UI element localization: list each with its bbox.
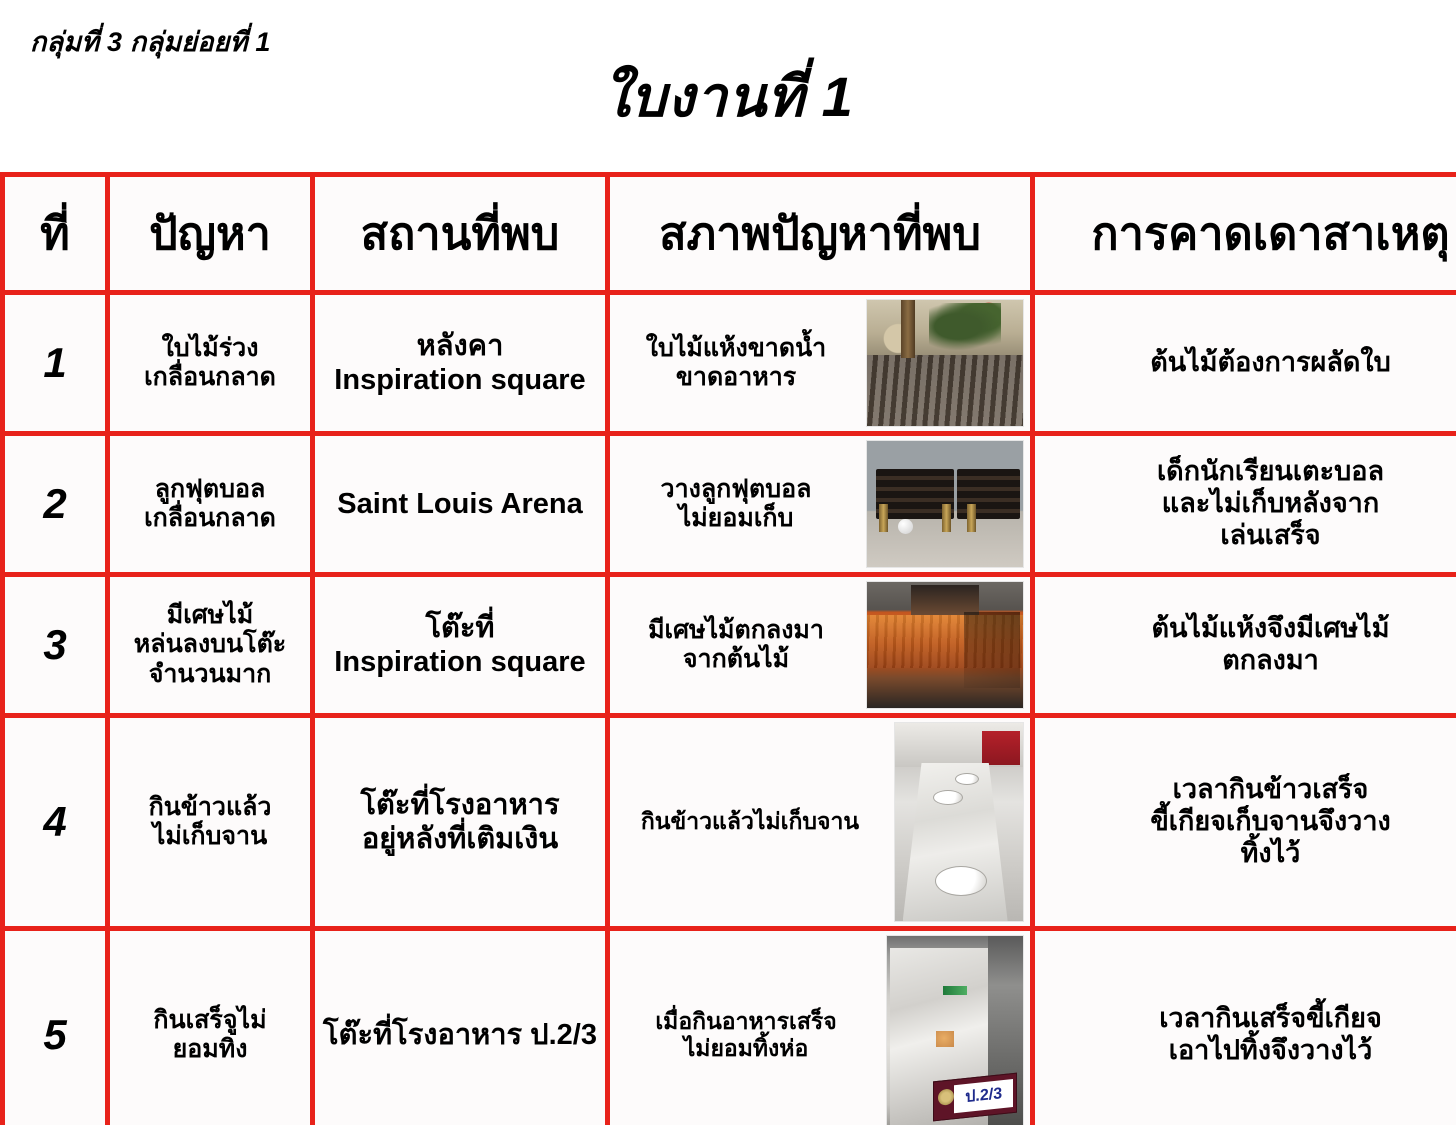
place-cell: Saint Louis Arena: [313, 434, 608, 575]
row-number: 2: [3, 434, 108, 575]
cause-text: ต้นไม้ต้องการผลัดใบ: [1041, 347, 1456, 379]
table-header-row: ที่ ปัญหา สถานที่พบ สภาพปัญหาที่พบ การคา…: [3, 175, 1456, 293]
cause-text: ต้นไม้แห้งจึงมีเศษไม้ ตกลงมา: [1041, 613, 1456, 677]
wooden-table-debris-photo: [866, 581, 1024, 709]
place-cell: โต๊ะที่ Inspiration square: [313, 575, 608, 716]
table-row: 3 มีเศษไม้ หล่นลงบนโต๊ะ จำนวนมาก โต๊ะที่…: [3, 575, 1456, 716]
column-header-no: ที่: [3, 175, 108, 293]
problem-cell: ลูกฟุตบอล เกลื่อนกลาด: [108, 434, 313, 575]
photo-red-cabinet: [982, 731, 1020, 765]
photo-table-top: [903, 763, 1008, 921]
column-header-problem: ปัญหา: [108, 175, 313, 293]
table-row: 5 กินเสร็จูไม่ ยอมทิง โต๊ะที่โรงอาหาร ป.…: [3, 929, 1456, 1125]
place-cell: โต๊ะที่โรงอาหาร ป.2/3: [313, 929, 608, 1125]
place-cell: หลังคา Inspiration square: [313, 293, 608, 434]
condition-cell: ใบไม้แห้งขาดน้ำ ขาดอาหาร: [608, 293, 1033, 434]
roof-with-dry-leaves-photo: [866, 299, 1024, 427]
table-row: 2 ลูกฟุตบอล เกลื่อนกลาด Saint Louis Aren…: [3, 434, 1456, 575]
benches-with-football-photo: [866, 440, 1024, 568]
table-row: 4 กินข้าวแล้ว ไม่เก็บจาน โต๊ะที่โรงอาหาร…: [3, 716, 1456, 929]
cause-cell: เวลากินข้าวเสร็จ ขี้เกียจเก็บจานจึงวาง ท…: [1033, 716, 1456, 929]
page-title: ใบงานที่ 1: [0, 52, 1456, 141]
problem-text: กินข้าวแล้ว ไม่เก็บจาน: [116, 793, 304, 852]
place-text: โต๊ะที่โรงอาหาร อยู่หลังที่เติมเงิน: [321, 788, 599, 856]
photo-food-wrapper: [936, 1031, 954, 1047]
problem-text: มีเศษไม้ หล่นลงบนโต๊ะ จำนวนมาก: [116, 601, 304, 690]
photo-plate: [955, 773, 979, 785]
condition-text: กินข้าวแล้วไม่เก็บจาน: [616, 808, 884, 835]
cause-text: เวลากินเสร็จขี้เกียจ เอาไปทิ้งจึงวางไว้: [1041, 1003, 1456, 1067]
problem-cell: มีเศษไม้ หล่นลงบนโต๊ะ จำนวนมาก: [108, 575, 313, 716]
problem-cell: กินเสร็จูไม่ ยอมทิง: [108, 929, 313, 1125]
condition-text: วางลูกฟุตบอล ไม่ยอมเก็บ: [616, 475, 856, 534]
row-number: 3: [3, 575, 108, 716]
cause-cell: เวลากินเสร็จขี้เกียจ เอาไปทิ้งจึงวางไว้: [1033, 929, 1456, 1125]
photo-green-wrapper: [943, 986, 967, 995]
place-text: Saint Louis Arena: [321, 487, 599, 521]
condition-cell: มีเศษไม้ตกลงมา จากต้นไม้: [608, 575, 1033, 716]
place-text: โต๊ะที่โรงอาหาร ป.2/3: [321, 1018, 599, 1052]
column-header-place: สถานที่พบ: [313, 175, 608, 293]
place-cell: โต๊ะที่โรงอาหาร อยู่หลังที่เติมเงิน: [313, 716, 608, 929]
canteen-table-dirty-plates-photo: [894, 722, 1024, 922]
cause-cell: ต้นไม้ต้องการผลัดใบ: [1033, 293, 1456, 434]
problem-cell: กินข้าวแล้ว ไม่เก็บจาน: [108, 716, 313, 929]
photo-school-seal: [938, 1088, 954, 1106]
row-number: 4: [3, 716, 108, 929]
row-number: 5: [3, 929, 108, 1125]
condition-text: เมื่อกินอาหารเสร็จ ไม่ยอมทิ้งห่อ: [616, 1008, 876, 1062]
photo-class-sign-text: ป.2/3: [954, 1078, 1013, 1112]
cause-text: เด็กนักเรียนเตะบอล และไม่เก็บหลังจาก เล่…: [1041, 456, 1456, 552]
condition-text: ใบไม้แห้งขาดน้ำ ขาดอาหาร: [616, 334, 856, 393]
table-row: 1 ใบไม้ร่วง เกลื่อนกลาด หลังคา Inspirati…: [3, 293, 1456, 434]
photo-bench-leg: [967, 504, 976, 532]
condition-cell: เมื่อกินอาหารเสร็จ ไม่ยอมทิ้งห่อ ป.2/3: [608, 929, 1033, 1125]
cause-cell: เด็กนักเรียนเตะบอล และไม่เก็บหลังจาก เล่…: [1033, 434, 1456, 575]
place-text: หลังคา Inspiration square: [321, 329, 599, 397]
photo-bench-leg: [942, 504, 951, 532]
condition-cell: วางลูกฟุตบอล ไม่ยอมเก็บ: [608, 434, 1033, 575]
worksheet-page: กลุ่มที่ 3 กลุ่มย่อยที่ 1 ใบงานที่ 1 ที่…: [0, 0, 1456, 1125]
photo-football: [898, 519, 913, 534]
photo-tree-trunk: [901, 300, 915, 358]
problem-text: กินเสร็จูไม่ ยอมทิง: [116, 1006, 304, 1065]
problem-text: ใบไม้ร่วง เกลื่อนกลาด: [116, 334, 304, 393]
column-header-condition: สภาพปัญหาที่พบ: [608, 175, 1033, 293]
photo-foliage: [929, 303, 1001, 351]
problem-text: ลูกฟุตบอล เกลื่อนกลาด: [116, 475, 304, 534]
worksheet-table-container: ที่ ปัญหา สถานที่พบ สภาพปัญหาที่พบ การคา…: [0, 172, 1456, 1125]
cause-text: เวลากินข้าวเสร็จ ขี้เกียจเก็บจานจึงวาง ท…: [1041, 774, 1456, 870]
photo-class-sign: ป.2/3: [933, 1072, 1017, 1120]
place-text: โต๊ะที่ Inspiration square: [321, 611, 599, 679]
photo-plate: [935, 866, 987, 896]
photo-shadow: [964, 612, 1020, 688]
condition-cell: กินข้าวแล้วไม่เก็บจาน: [608, 716, 1033, 929]
photo-chair: [911, 585, 980, 615]
row-number: 1: [3, 293, 108, 434]
problem-cell: ใบไม้ร่วง เกลื่อนกลาด: [108, 293, 313, 434]
column-header-cause: การคาดเดาสาเหตุ: [1033, 175, 1456, 293]
canteen-table-class-sign-photo: ป.2/3: [886, 935, 1024, 1125]
photo-bench-leg: [879, 504, 888, 532]
cause-cell: ต้นไม้แห้งจึงมีเศษไม้ ตกลงมา: [1033, 575, 1456, 716]
worksheet-table: ที่ ปัญหา สถานที่พบ สภาพปัญหาที่พบ การคา…: [0, 172, 1456, 1125]
condition-text: มีเศษไม้ตกลงมา จากต้นไม้: [616, 616, 856, 675]
